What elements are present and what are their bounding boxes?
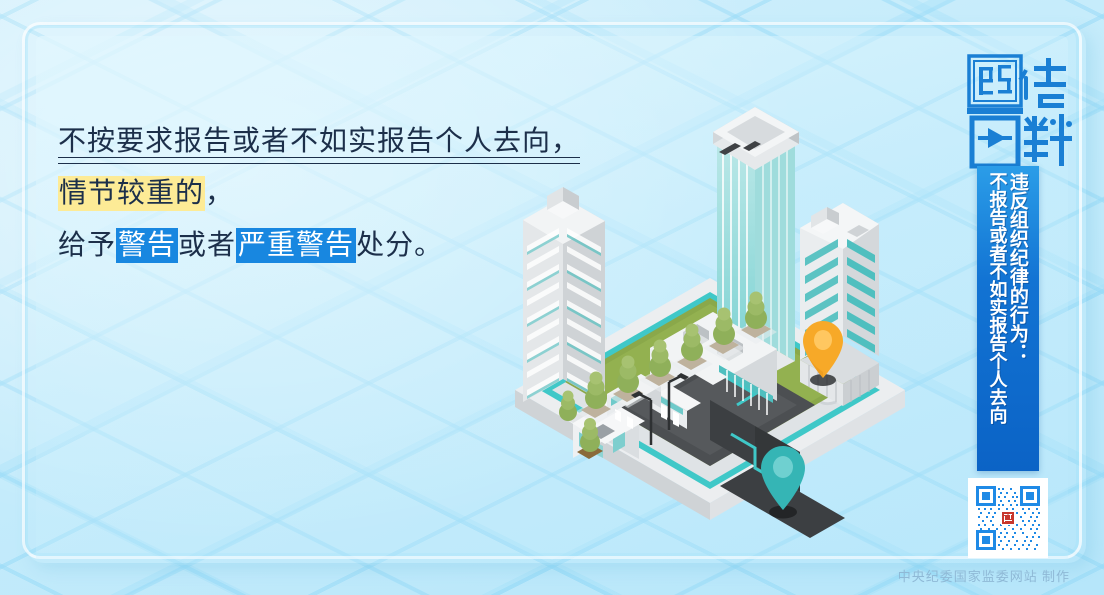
banner-column-right: 违反组织纪律的行为：: [1007, 172, 1026, 471]
headline-line-2-tail: ，: [205, 178, 234, 209]
credit-text: 中央纪委国家监委网站 制作: [898, 566, 1070, 585]
headline-line-3-mid: 或者: [178, 230, 236, 261]
isometric-city-illustration: [455, 60, 925, 560]
qr-code[interactable]: [968, 478, 1048, 558]
brand-logo: [962, 52, 1074, 174]
residential-tower: [523, 187, 605, 403]
banner-column-left: 不报告或者不如实报告个人去向: [988, 172, 1006, 471]
center-seal-icon: [1001, 511, 1015, 525]
play-triangle-icon: [967, 108, 1023, 166]
headline-highlight-blue-2: 严重警告: [236, 228, 356, 263]
headline-highlight-blue-1: 警告: [116, 228, 178, 263]
headline-highlight-yellow: 情节较重的: [58, 176, 205, 211]
vertical-title-banner: 违反组织纪律的行为： 不报告或者不如实报告个人去向: [977, 166, 1039, 471]
curved-office-block: [800, 203, 879, 406]
headline-line-3-pre: 给予: [58, 230, 116, 261]
headline-line-3-tail: 处分。: [356, 230, 443, 261]
poster-canvas: 不按要求报告或者不如实报告个人去向， 情节较重的， 给予警告或者严重警告处分。: [0, 0, 1104, 595]
